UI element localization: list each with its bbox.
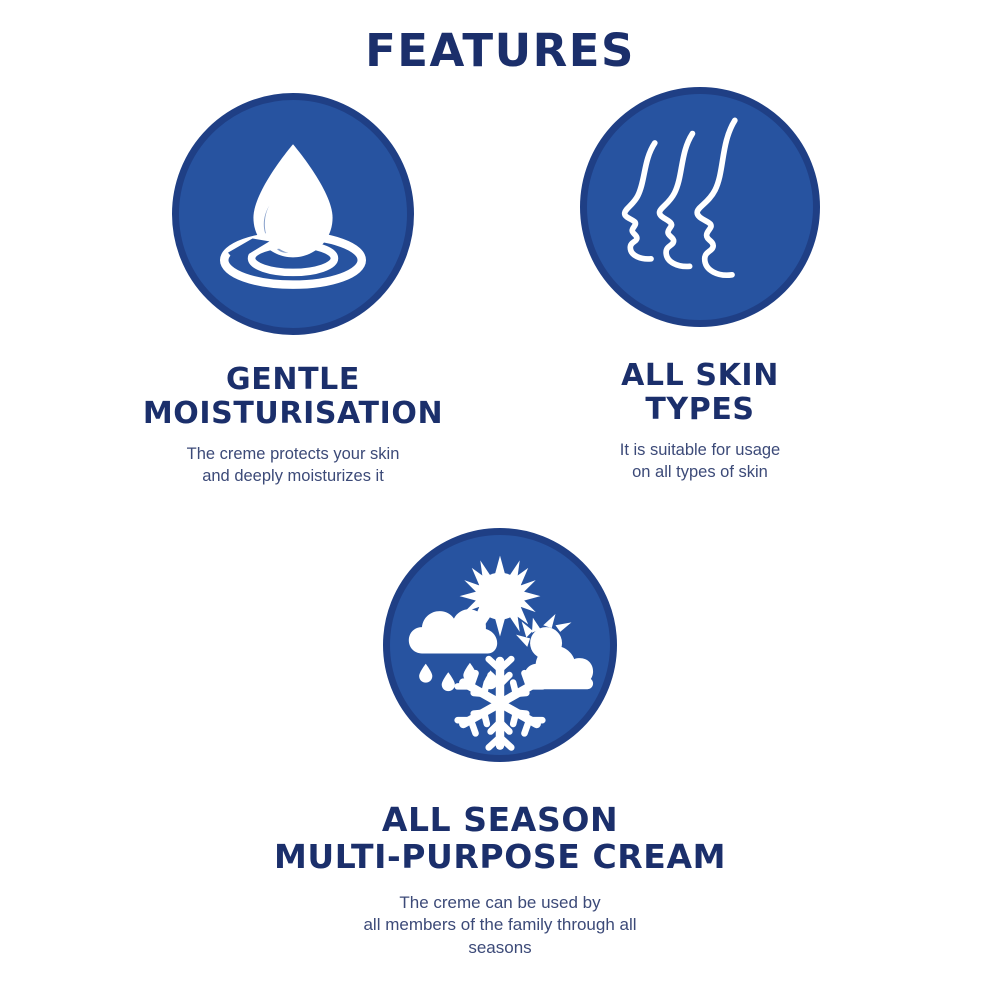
feature-description: The creme can be used by all members of … xyxy=(250,892,750,959)
all-weather-seasons-icon xyxy=(383,528,617,762)
description-line: seasons xyxy=(250,937,750,959)
description-line: The creme can be used by xyxy=(250,892,750,914)
feature-description: It is suitable for usage on all types of… xyxy=(550,440,850,484)
heading-line: TYPES xyxy=(550,393,850,427)
description-line: on all types of skin xyxy=(550,462,850,484)
water-droplet-ripple-icon xyxy=(172,93,414,335)
features-infographic: FEATURES GENTLE MOISTURISATION The xyxy=(0,0,1000,1000)
heading-line: ALL SEASON xyxy=(250,802,750,839)
description-line: and deeply moisturizes it xyxy=(113,466,473,488)
description-line: all members of the family through all xyxy=(250,914,750,936)
feature-heading: ALL SEASON MULTI-PURPOSE CREAM xyxy=(250,802,750,876)
feature-card-all-skin-types: ALL SKIN TYPES It is suitable for usage … xyxy=(550,87,850,484)
heading-line: GENTLE xyxy=(113,363,473,397)
three-face-profiles-icon xyxy=(580,87,820,327)
heading-line: ALL SKIN xyxy=(550,359,850,393)
description-line: It is suitable for usage xyxy=(550,440,850,462)
description-line: The creme protects your skin xyxy=(113,444,473,466)
feature-card-all-season-cream: ALL SEASON MULTI-PURPOSE CREAM The creme… xyxy=(250,528,750,959)
page-title: FEATURES xyxy=(0,28,1000,73)
feature-heading: ALL SKIN TYPES xyxy=(550,359,850,426)
feature-card-gentle-moisturisation: GENTLE MOISTURISATION The creme protects… xyxy=(113,93,473,488)
feature-heading: GENTLE MOISTURISATION xyxy=(113,363,473,430)
heading-line: MOISTURISATION xyxy=(113,397,473,431)
feature-description: The creme protects your skin and deeply … xyxy=(113,444,473,488)
heading-line: MULTI-PURPOSE CREAM xyxy=(250,839,750,876)
